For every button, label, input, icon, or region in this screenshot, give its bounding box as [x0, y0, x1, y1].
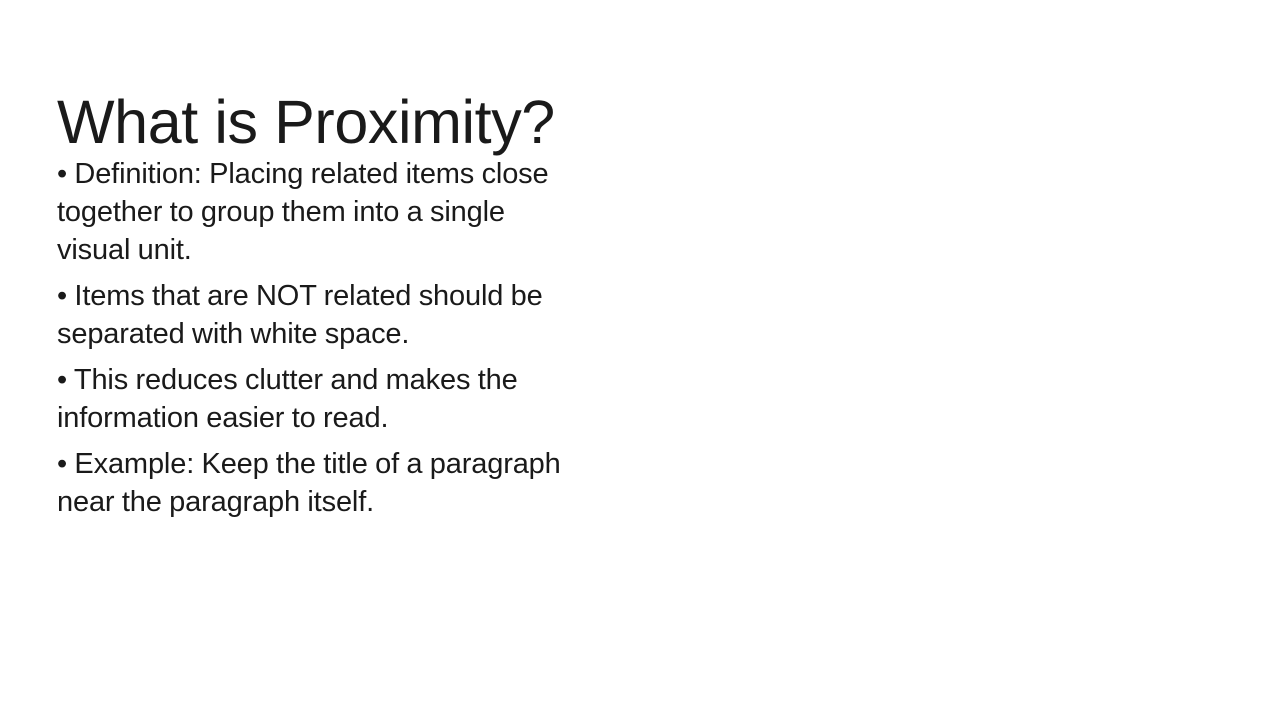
list-item: • Definition: Placing related items clos… — [57, 155, 579, 269]
list-item: • Example: Keep the title of a paragraph… — [57, 445, 579, 521]
slide-canvas: What is Proximity? • Definition: Placing… — [0, 0, 1280, 720]
page-title: What is Proximity? — [57, 90, 957, 156]
slide-body-content: • Definition: Placing related items clos… — [57, 155, 579, 521]
list-item: • This reduces clutter and makes the inf… — [57, 361, 579, 437]
list-item: • Items that are NOT related should be s… — [57, 277, 579, 353]
